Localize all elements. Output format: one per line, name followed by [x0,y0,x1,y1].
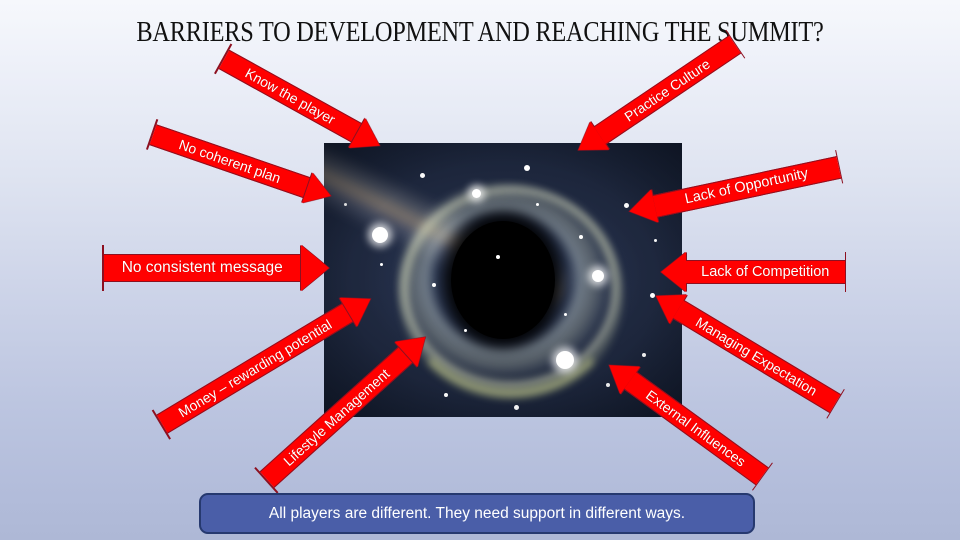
slide-canvas: BARRIERS TO DEVELOPMENT AND REACHING THE… [0,0,960,540]
arrow-label: No coherent plan [150,128,309,194]
arrow-tail [845,252,847,292]
arrow-label: External Influences [626,375,766,482]
arrow-shaft: Lack of Competition [686,260,845,284]
arrow-label: Practice Culture [596,39,739,141]
arrow-shaft: Practice Culture [594,36,741,145]
caption-text: All players are different. They need sup… [269,505,685,523]
caption-box: All players are different. They need sup… [199,493,755,534]
arrow-shaft: No coherent plan [149,124,311,198]
arrow-shaft: Managing Expectation [673,300,841,413]
arrow-know-the-player[interactable]: Know the player [214,43,388,160]
arrow-external-influences[interactable]: External Influences [599,351,773,490]
arrow-label: Know the player [220,53,360,139]
arrow-shaft: Know the player [218,49,362,142]
arrow-lack-of-competition[interactable]: Lack of Competition [661,252,846,292]
arrow-label: Managing Expectation [675,303,839,409]
arrow-no-coherent-plan[interactable]: No coherent plan [146,119,336,211]
arrow-shaft: External Influences [624,372,768,485]
arrow-head [301,245,329,291]
page-title: BARRIERS TO DEVELOPMENT AND REACHING THE… [77,16,883,49]
arrow-no-consistent-message[interactable]: No consistent message [102,245,329,291]
arrow-label: No consistent message [104,260,302,276]
arrow-label: Lack of Competition [686,265,845,280]
arrow-shaft: No consistent message [104,254,302,282]
